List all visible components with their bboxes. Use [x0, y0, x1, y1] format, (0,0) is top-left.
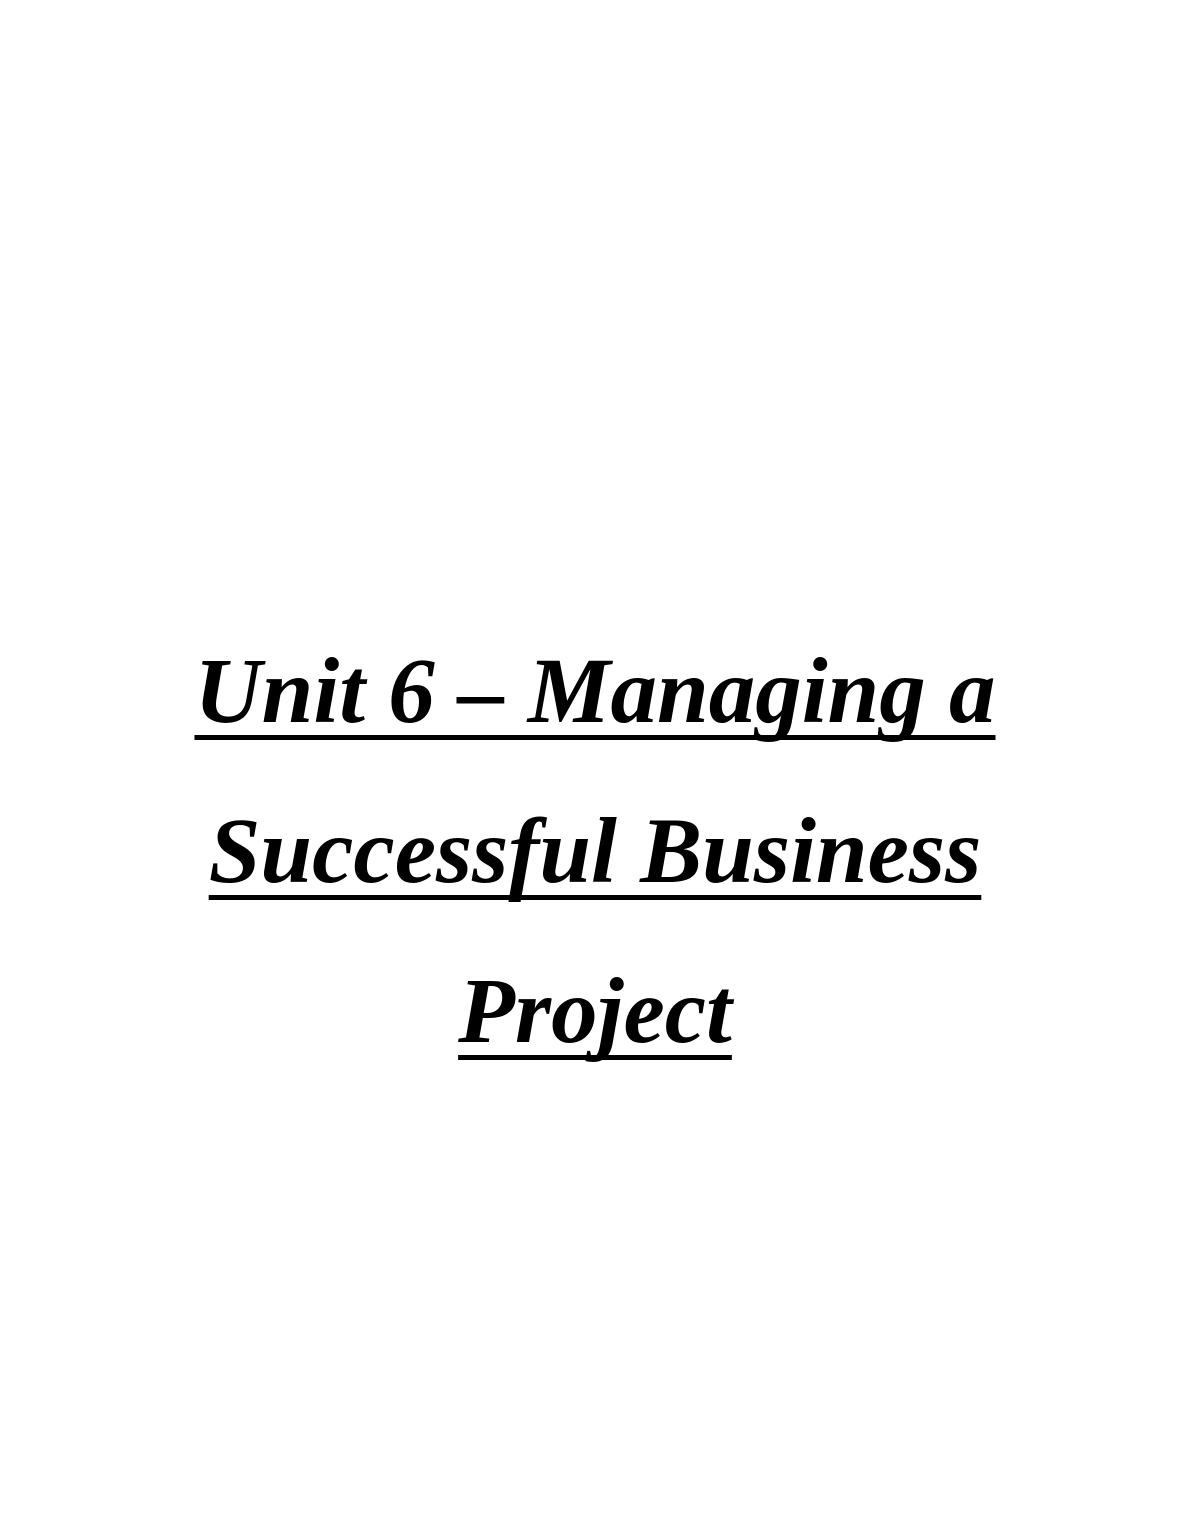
title-line-1-text: Unit 6 – Managing a [194, 640, 995, 743]
title-line-3: Project [96, 932, 1094, 1092]
title-line-1: Unit 6 – Managing a [96, 612, 1094, 772]
title-line-2-text: Successful Business [209, 800, 982, 903]
page-title: Unit 6 – Managing a Successful Business … [0, 612, 1190, 1092]
title-line-2: Successful Business [96, 772, 1094, 932]
title-line-3-text: Project [458, 960, 732, 1063]
document-page: Unit 6 – Managing a Successful Business … [0, 0, 1190, 1540]
